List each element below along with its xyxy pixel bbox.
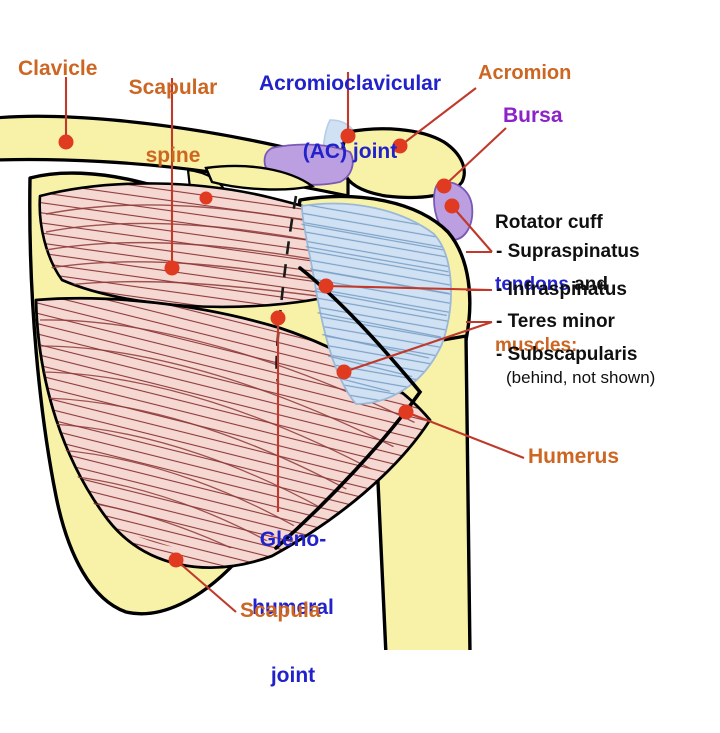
label-scapular-spine-line1: Scapular xyxy=(118,77,228,100)
rotator-cuff-item-subscapularis-note: (behind, not shown) xyxy=(506,369,655,387)
rotator-cuff-item-supraspinatus: - Supraspinatus xyxy=(496,242,640,263)
diagram-canvas: Clavicle Scapular spine Acromioclavicula… xyxy=(0,0,720,650)
rotator-cuff-heading-line1: Rotator cuff xyxy=(495,213,608,234)
label-humerus: Humerus xyxy=(528,446,619,469)
label-bursa: Bursa xyxy=(503,105,563,128)
label-acromion: Acromion xyxy=(478,63,571,85)
label-ac-joint-line2: (AC) joint xyxy=(248,141,452,164)
label-clavicle: Clavicle xyxy=(18,58,97,81)
label-ac-joint: Acromioclavicular (AC) joint xyxy=(248,28,452,209)
rotator-cuff-item-subscapularis: - Subscapularis xyxy=(496,345,638,366)
rotator-cuff-item-teres-minor: - Teres minor xyxy=(496,312,615,333)
label-ac-joint-line1: Acromioclavicular xyxy=(248,73,452,96)
label-glenohumeral-line1: Gleno- xyxy=(238,529,348,552)
label-scapula: Scapula xyxy=(240,600,321,623)
label-scapular-spine-line2: spine xyxy=(118,145,228,168)
label-glenohumeral-line3: joint xyxy=(238,665,348,688)
rotator-cuff-item-infraspinatus: - Infraspinatus xyxy=(496,280,627,301)
label-scapular-spine: Scapular spine xyxy=(118,32,228,213)
